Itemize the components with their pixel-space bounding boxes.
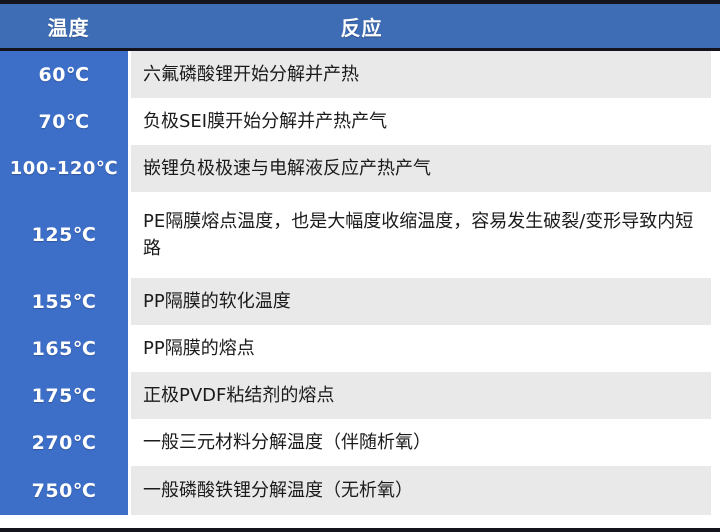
table-row: 270℃ 一般三元材料分解温度（伴随析氧） [0, 419, 720, 466]
thermal-runaway-table-page: 温度 反应 60℃ 六氟磷酸锂开始分解并产热 70℃ 负极SEI膜开始分解并产热… [0, 0, 720, 532]
row-right-gutter [711, 372, 720, 419]
table-body: 60℃ 六氟磷酸锂开始分解并产热 70℃ 负极SEI膜开始分解并产热产气 100… [0, 51, 720, 528]
cell-reaction: PP隔膜的熔点 [128, 325, 711, 372]
table-row: 155℃ PP隔膜的软化温度 [0, 278, 720, 325]
row-right-gutter [711, 98, 720, 145]
row-right-gutter [711, 419, 720, 466]
cell-reaction: 一般三元材料分解温度（伴随析氧） [128, 419, 711, 466]
cell-reaction: 一般磷酸铁锂分解温度（无析氧） [128, 466, 711, 515]
cell-reaction: 六氟磷酸锂开始分解并产热 [128, 51, 711, 98]
cell-temperature: 125℃ [0, 192, 128, 278]
row-right-gutter [711, 466, 720, 515]
cell-reaction: 负极SEI膜开始分解并产热产气 [128, 98, 711, 145]
table-row: 750℃ 一般磷酸铁锂分解温度（无析氧） [0, 466, 720, 515]
table-row: 165℃ PP隔膜的熔点 [0, 325, 720, 372]
cell-temperature: 60℃ [0, 51, 128, 98]
row-right-gutter [711, 325, 720, 372]
cell-reaction: PE隔膜熔点温度，也是大幅度收缩温度，容易发生破裂/变形导致内短路 [128, 192, 711, 278]
cell-temperature: 100-120℃ [0, 145, 128, 192]
table-row: 175℃ 正极PVDF粘结剂的熔点 [0, 372, 720, 419]
row-right-gutter [711, 278, 720, 325]
row-right-gutter [711, 145, 720, 192]
table-row: 70℃ 负极SEI膜开始分解并产热产气 [0, 98, 720, 145]
cell-temperature: 165℃ [0, 325, 128, 372]
cell-reaction: 嵌锂负极极速与电解液反应产热产气 [128, 145, 711, 192]
table-row: 60℃ 六氟磷酸锂开始分解并产热 [0, 51, 720, 98]
cell-temperature: 750℃ [0, 466, 128, 515]
cell-temperature: 155℃ [0, 278, 128, 325]
row-right-gutter [711, 192, 720, 278]
cell-reaction: 正极PVDF粘结剂的熔点 [128, 372, 711, 419]
cell-temperature: 70℃ [0, 98, 128, 145]
table-row: 125℃ PE隔膜熔点温度，也是大幅度收缩温度，容易发生破裂/变形导致内短路 [0, 192, 720, 278]
bottom-edge-strip [0, 528, 720, 532]
column-header-reaction: 反应 [137, 4, 720, 48]
cell-temperature: 175℃ [0, 372, 128, 419]
cell-reaction: PP隔膜的软化温度 [128, 278, 711, 325]
table-row: 100-120℃ 嵌锂负极极速与电解液反应产热产气 [0, 145, 720, 192]
temperature-reaction-table: 温度 反应 60℃ 六氟磷酸锂开始分解并产热 70℃ 负极SEI膜开始分解并产热… [0, 4, 720, 528]
cell-temperature: 270℃ [0, 419, 128, 466]
table-header-row: 温度 反应 [0, 4, 720, 51]
column-header-temperature: 温度 [0, 4, 137, 48]
row-right-gutter [711, 51, 720, 98]
